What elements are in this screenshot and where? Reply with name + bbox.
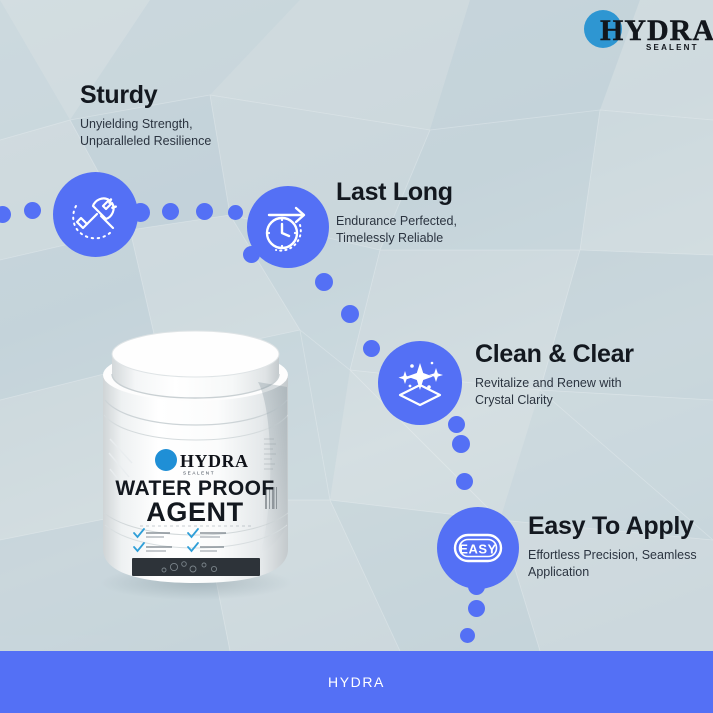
feature-description: Unyielding Strength, Unparalleled Resili… bbox=[80, 116, 211, 151]
svg-text:HYDRA: HYDRA bbox=[180, 451, 249, 471]
footer-bar: HYDRA bbox=[0, 651, 713, 713]
path-dot bbox=[24, 202, 41, 219]
feature-description: Revitalize and Renew with Crystal Clarit… bbox=[475, 375, 634, 410]
feature-icon-easy-to-apply[interactable]: EASY bbox=[437, 507, 519, 589]
badge-nub bbox=[448, 416, 465, 433]
brand-logo: HYDRA SEALENT bbox=[584, 4, 710, 56]
feature-icon-last-long[interactable] bbox=[247, 186, 329, 268]
feature-block-sturdy: Sturdy Unyielding Strength, Unparalleled… bbox=[80, 82, 211, 150]
feature-description: Effortless Precision, Seamless Applicati… bbox=[528, 547, 697, 582]
product-jar: HYDRA SEALENT WATER PROOF AGENT bbox=[88, 327, 303, 602]
path-dot bbox=[456, 473, 473, 490]
logo-tagline: SEALENT bbox=[646, 43, 699, 52]
feature-title: Last Long bbox=[336, 179, 457, 207]
path-dot bbox=[460, 628, 475, 643]
feature-block-clean-clear: Clean & Clear Revitalize and Renew with … bbox=[475, 341, 634, 409]
svg-text:EASY: EASY bbox=[459, 541, 496, 556]
feature-title: Sturdy bbox=[80, 82, 211, 110]
feature-description: Endurance Perfected, Timelessly Reliable bbox=[336, 213, 457, 248]
path-dot bbox=[162, 203, 179, 220]
feature-title: Easy To Apply bbox=[528, 513, 697, 541]
feature-title: Clean & Clear bbox=[475, 341, 634, 369]
path-dot bbox=[315, 273, 333, 291]
path-dot bbox=[452, 435, 470, 453]
path-dot bbox=[363, 340, 380, 357]
path-dot bbox=[228, 205, 243, 220]
svg-text:SEALENT: SEALENT bbox=[183, 471, 215, 476]
path-dot bbox=[341, 305, 359, 323]
footer-brand-text: HYDRA bbox=[328, 674, 385, 690]
feature-block-easy-to-apply: Easy To Apply Effortless Precision, Seam… bbox=[528, 513, 697, 581]
feature-block-last-long: Last Long Endurance Perfected, Timelessl… bbox=[336, 179, 457, 247]
path-dot bbox=[196, 203, 213, 220]
path-dot bbox=[468, 600, 485, 617]
feature-icon-sturdy[interactable] bbox=[53, 172, 138, 257]
svg-text:AGENT: AGENT bbox=[146, 497, 244, 527]
feature-icon-clean-clear[interactable] bbox=[378, 341, 462, 425]
product-infographic: HYDRA SEALENT bbox=[0, 0, 713, 713]
